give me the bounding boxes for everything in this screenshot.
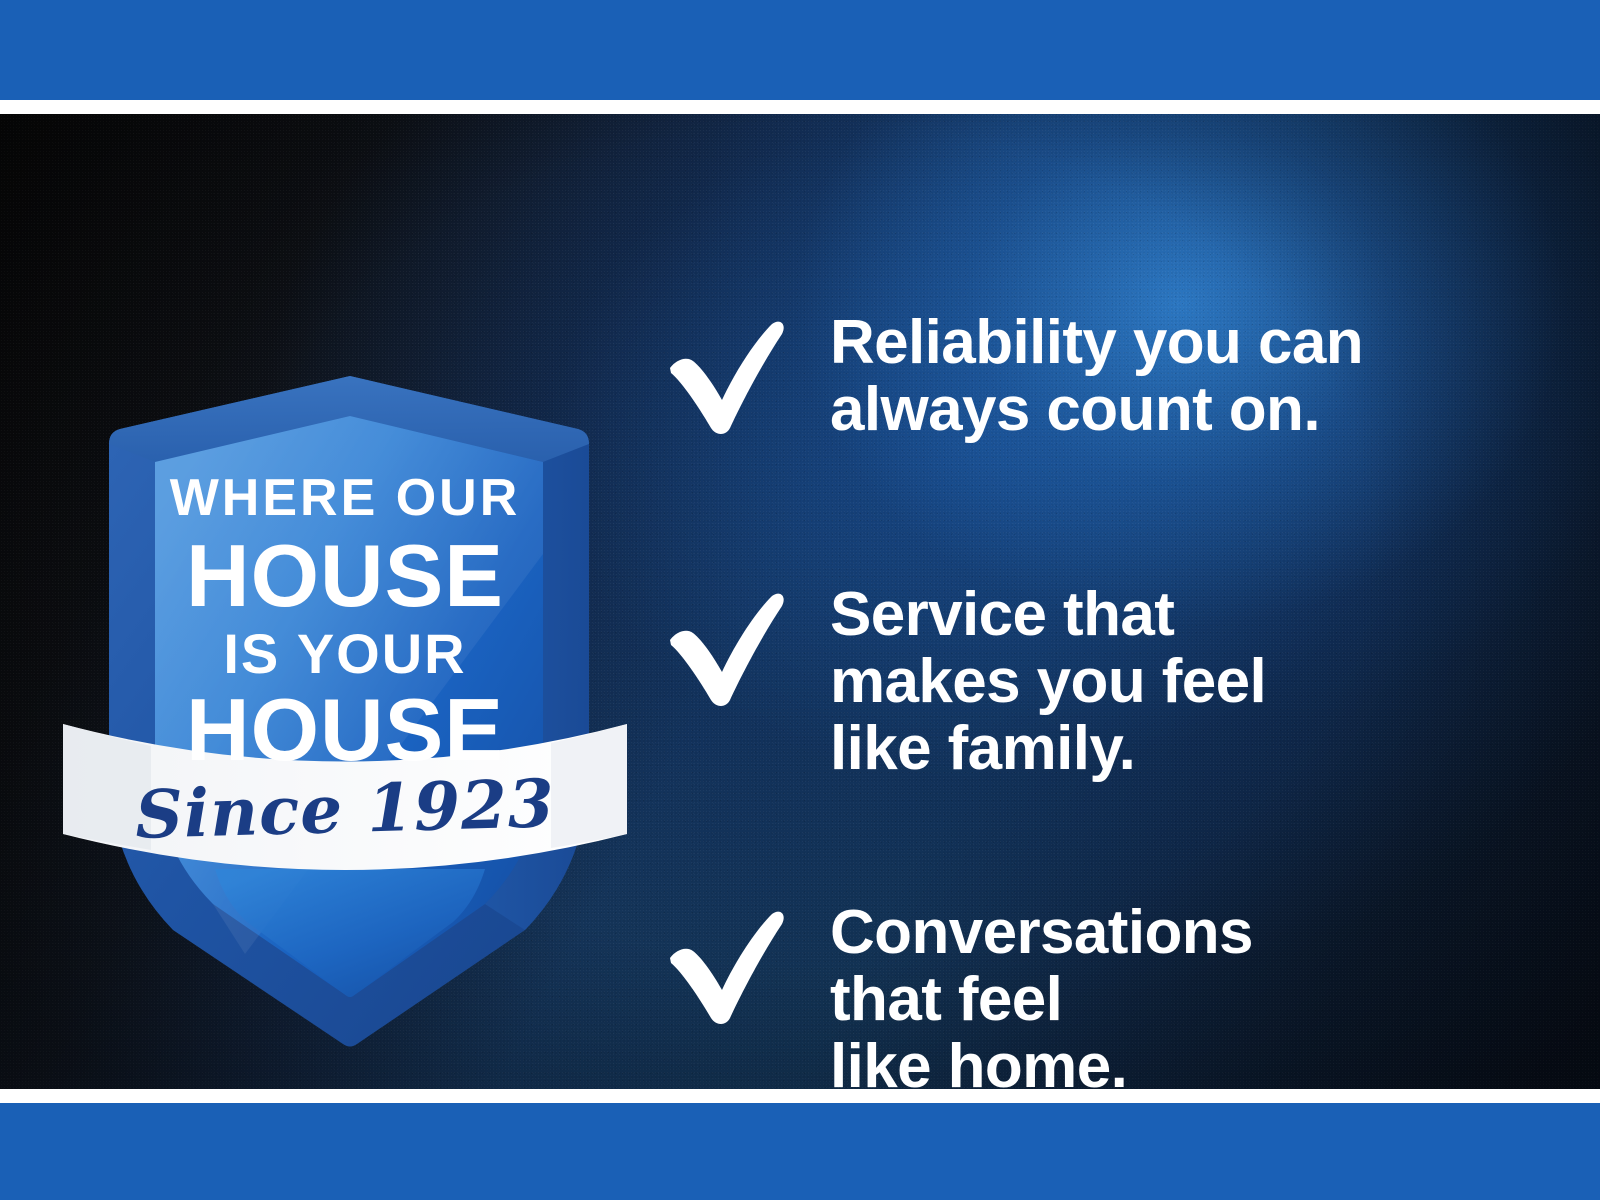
- promo-graphic: Where Our House Is Your House Since 1923…: [0, 0, 1600, 1200]
- shield-line-house-1: House: [55, 532, 635, 620]
- shield-line-is-your: Is Your: [55, 626, 635, 682]
- checkmark-icon: [660, 588, 788, 708]
- benefit-text-reliability: Reliability you can always count on.: [830, 310, 1363, 444]
- checkmark-icon: [660, 316, 788, 436]
- top-white-divider: [0, 100, 1600, 114]
- benefit-text-conversations: Conversations that feel like home.: [830, 900, 1253, 1089]
- shield-logo: Where Our House Is Your House Since 1923: [55, 254, 635, 1064]
- top-brand-bar: [0, 0, 1600, 100]
- checkmark-icon: [660, 906, 788, 1026]
- shield-line-where-our: Where Our: [55, 472, 635, 524]
- bottom-white-divider: [0, 1089, 1600, 1103]
- since-year-script: Since 1923: [54, 762, 636, 856]
- benefit-item-conversations: Conversations that feel like home.: [660, 900, 1253, 1089]
- bottom-brand-bar: [0, 1103, 1600, 1200]
- benefit-item-service: Service that makes you feel like family.: [660, 582, 1266, 783]
- shield-line-house-2: House: [55, 686, 635, 774]
- main-panel: Where Our House Is Your House Since 1923…: [0, 114, 1600, 1089]
- benefit-item-reliability: Reliability you can always count on.: [660, 310, 1363, 444]
- benefit-text-service: Service that makes you feel like family.: [830, 582, 1266, 783]
